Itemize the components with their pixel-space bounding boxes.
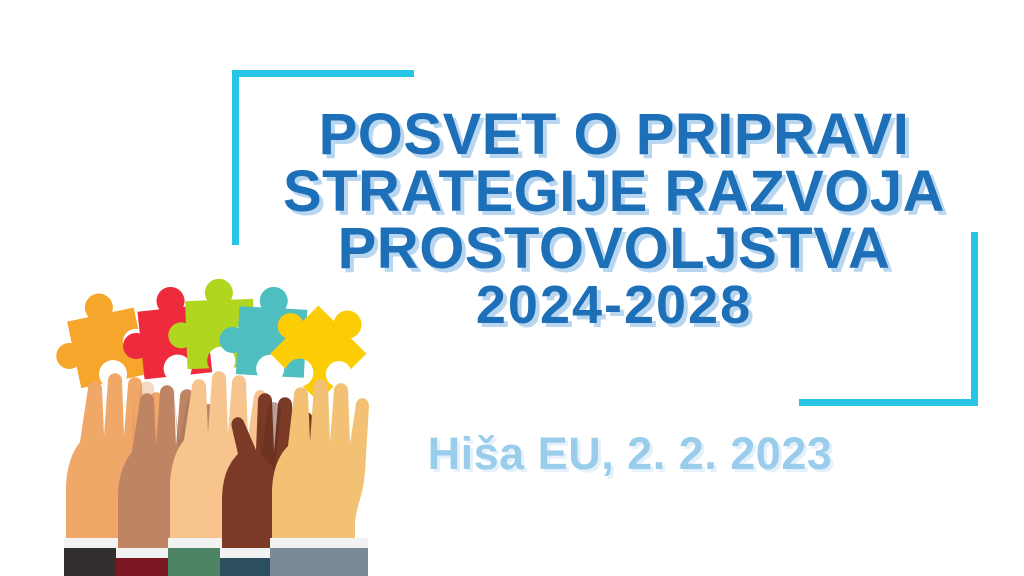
poster-canvas: POSVET O PRIPRAVI STRATEGIJE RAZVOJA PRO…	[0, 0, 1024, 576]
sleeve-5	[270, 548, 368, 576]
subtitle-venue-date: Hiša EU, 2. 2. 2023	[360, 429, 900, 479]
bracket-bottom-right-horizontal-bar	[799, 399, 978, 406]
bracket-top-left-horizontal-bar	[232, 70, 414, 77]
hands-puzzle-illustration	[14, 276, 380, 576]
title-line-1: POSVET O PRIPRAVI	[236, 106, 992, 163]
title-line-2: STRATEGIJE RAZVOJA	[236, 163, 992, 220]
title-line-3: PROSTOVOLJSTVA	[236, 220, 992, 277]
